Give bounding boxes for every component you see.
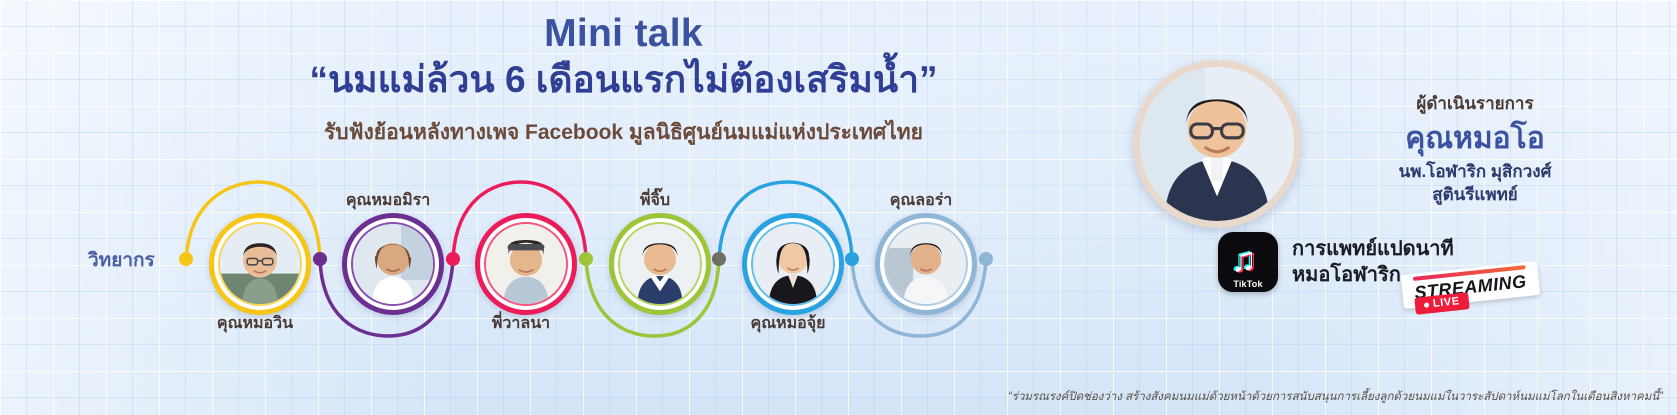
speaker-name-5: คุณหมอจุ้ย (751, 311, 826, 336)
host-full-name: นพ.โอฬาริก มุสิกวงศ์ (1310, 161, 1640, 184)
footer-note: “ร่วมรณรงค์ปิดช่องว่าง สร้างสังคมนมแม่ด้… (845, 388, 1663, 406)
speaker-avatar-3[interactable] (475, 213, 577, 315)
speaker-photo-2 (353, 224, 433, 304)
speaker-avatar-5[interactable] (742, 213, 844, 315)
tiktok-icon[interactable]: ♫ ♫ ♫ TikTok (1218, 232, 1278, 292)
speaker-avatar-6[interactable] (875, 213, 977, 315)
live-dot-icon (1424, 302, 1429, 307)
host-info: ผู้ดำเนินรายการ คุณหมอโอ นพ.โอฬาริก มุสิ… (1310, 90, 1640, 207)
breastfeeding-mini-talk-banner: Mini talk “นมแม่ล้วน 6 เดือนแรกไม่ต้องเส… (0, 0, 1677, 415)
host-photo (1140, 67, 1294, 221)
host-avatar[interactable] (1133, 60, 1301, 228)
speaker-name-6: คุณลอร่า (890, 188, 953, 213)
speaker-photo-1 (220, 224, 300, 304)
speaker-avatar-1[interactable] (209, 213, 311, 315)
speaker-photo-3 (486, 224, 566, 304)
speaker-avatar-4[interactable] (609, 213, 711, 315)
host-role: ผู้ดำเนินรายการ (1310, 90, 1640, 117)
speaker-name-1: คุณหมอวิน (217, 311, 293, 336)
speaker-avatar-2[interactable] (342, 213, 444, 315)
host-specialty: สูตินรีแพทย์ (1310, 184, 1640, 207)
speaker-connector-arcs (0, 0, 1677, 415)
tiktok-label: TikTok (1218, 279, 1278, 289)
channel-name-line1: การแพทย์แปดนาที (1292, 236, 1454, 262)
speaker-name-4: พี่จิ๊บ (640, 188, 670, 213)
speaker-name-2: คุณหมอมิรา (346, 188, 430, 213)
speaker-photo-5 (753, 224, 833, 304)
host-nickname: คุณหมอโอ (1310, 122, 1640, 155)
speaker-photo-6 (886, 224, 966, 304)
speaker-name-3: พี่วาลนา (492, 311, 550, 336)
live-label: LIVE (1432, 295, 1460, 310)
speaker-photo-4 (620, 224, 700, 304)
